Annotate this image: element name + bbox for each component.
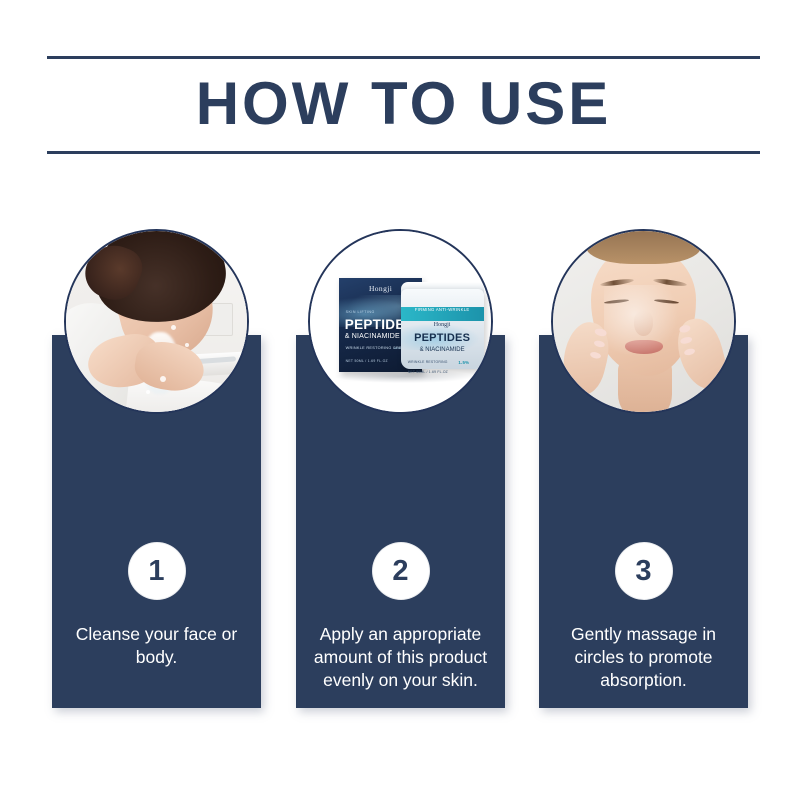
step-caption-1: Cleanse your face or body. <box>60 623 253 669</box>
header-rule-bottom <box>47 151 760 154</box>
steps-container: 1 Cleanse your face or body. <box>52 229 748 709</box>
product-jar-descriptor: WRINKLE RESTORING <box>408 360 448 364</box>
page-title: HOW TO USE <box>47 74 760 134</box>
step-number-badge-3: 3 <box>616 543 672 599</box>
face-massage-illustration <box>553 231 734 412</box>
step-caption-3: Gently massage in circles to promote abs… <box>547 623 740 692</box>
product-jar-banner: FIRMING ANTI-WRINKLE <box>401 307 484 321</box>
product-box-net-weight: NET 50ML / 1.69 FL.OZ <box>346 359 388 363</box>
product-jar-banner-text: FIRMING ANTI-WRINKLE <box>401 307 484 314</box>
step-caption-2: Apply an appropriate amount of this prod… <box>304 623 497 692</box>
page-header: HOW TO USE <box>47 56 760 154</box>
header-rule-top <box>47 56 760 59</box>
product-jar-subname: & NIACINAMIDE <box>401 347 484 353</box>
product-box-subname: & NIACINAMIDE <box>345 333 400 340</box>
product-packshot-illustration: Hongji SKIN LIFTING PEPTIDES & NIACINAMI… <box>310 231 491 412</box>
cleansing-face-illustration <box>66 231 247 412</box>
step-image-2: Hongji SKIN LIFTING PEPTIDES & NIACINAMI… <box>308 229 493 414</box>
product-jar-brand: Hongji <box>401 322 484 328</box>
step-image-1 <box>64 229 249 414</box>
product-jar-net-weight: NET 50ML / 1.69 FL.OZ <box>408 370 448 374</box>
product-box-eyebrow: SKIN LIFTING <box>346 310 375 314</box>
step-card-3: 3 Gently massage in circles to promote a… <box>539 229 748 708</box>
step-card-2: 2 Apply an appropriate amount of this pr… <box>296 229 505 708</box>
step-image-3 <box>551 229 736 414</box>
product-jar-name: PEPTIDES <box>401 332 484 344</box>
step-number-badge-2: 2 <box>373 543 429 599</box>
product-jar-percent: 1.5% <box>458 360 469 365</box>
step-card-1: 1 Cleanse your face or body. <box>52 229 261 708</box>
step-number-badge-1: 1 <box>129 543 185 599</box>
